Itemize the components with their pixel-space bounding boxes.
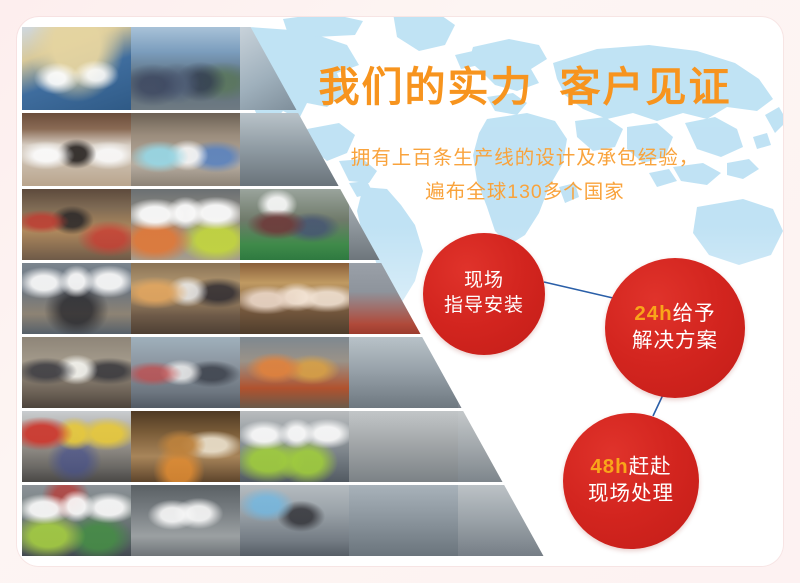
page-title: 我们的实力客户见证 <box>285 65 765 110</box>
photo-tile <box>131 189 240 260</box>
circle-3-line-2: 现场处理 <box>588 481 674 508</box>
photo-tile <box>22 27 131 110</box>
promo-banner: 我们的实力客户见证 拥有上百条生产线的设计及承包经验， 遍布全球130多个国家 … <box>0 0 800 583</box>
banner-card: 我们的实力客户见证 拥有上百条生产线的设计及承包经验， 遍布全球130多个国家 … <box>17 17 783 566</box>
subtitle-line-2: 遍布全球130多个国家 <box>285 175 765 209</box>
photo-tile <box>349 485 458 556</box>
photo-tile <box>458 411 567 482</box>
page-subtitle: 拥有上百条生产线的设计及承包经验， 遍布全球130多个国家 <box>285 141 765 209</box>
photo-tile <box>349 337 458 408</box>
photo-tile <box>131 485 240 556</box>
photo-tile <box>458 485 567 556</box>
photo-tile <box>131 337 240 408</box>
title-right-text: 客户见证 <box>560 64 732 110</box>
photo-tile <box>131 27 240 110</box>
photo-tile <box>131 411 240 482</box>
circle-2-highlight: 24h <box>634 302 672 325</box>
connector-line-1-2 <box>544 282 613 298</box>
photo-tile <box>22 485 131 556</box>
title-left-text: 我们的实力 <box>319 64 534 110</box>
photo-tile <box>240 411 349 482</box>
service-circle-48h-onsite[interactable]: 48h赶赴 现场处理 <box>563 413 699 549</box>
photo-tile <box>22 337 131 408</box>
service-circle-24h-solution[interactable]: 24h给予 解决方案 <box>605 258 745 398</box>
circle-3-highlight: 48h <box>590 455 628 478</box>
photo-tile <box>131 263 240 334</box>
photo-tile <box>349 411 458 482</box>
photo-tile <box>22 263 131 334</box>
circle-3-line-1-rest: 赶赴 <box>629 455 672 478</box>
photo-tile <box>240 337 349 408</box>
service-circle-onsite-installation[interactable]: 现场 指导安装 <box>423 233 545 355</box>
circle-1-line-1: 现场 <box>464 269 504 294</box>
circle-2-line-1: 24h给予 <box>634 301 715 328</box>
circle-3-line-1: 48h赶赴 <box>590 454 671 481</box>
photo-tile <box>22 411 131 482</box>
photo-tile <box>240 485 349 556</box>
photo-tile <box>22 189 131 260</box>
subtitle-line-1: 拥有上百条生产线的设计及承包经验， <box>285 141 765 175</box>
photo-tile <box>22 113 131 186</box>
photo-tile <box>240 263 349 334</box>
photo-tile <box>131 113 240 186</box>
circle-2-line-2: 解决方案 <box>632 328 718 355</box>
circle-2-line-1-rest: 给予 <box>673 302 716 325</box>
circle-1-line-2: 指导安装 <box>444 294 524 319</box>
